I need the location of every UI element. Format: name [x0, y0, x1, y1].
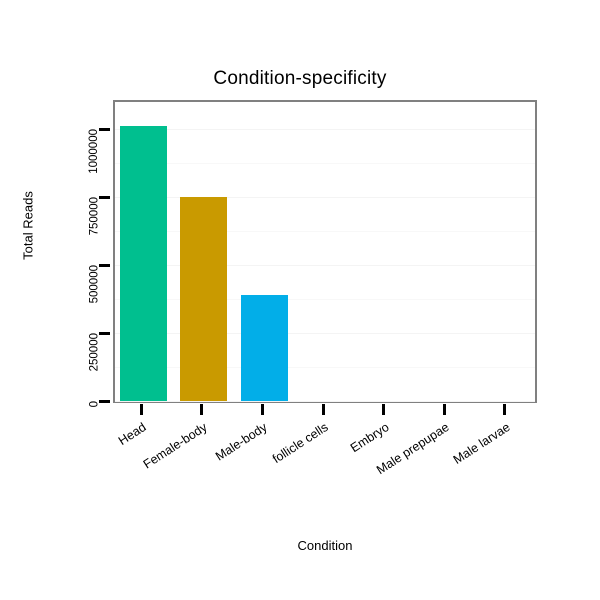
- y-tick-mark: [99, 128, 110, 131]
- panel-inner: [115, 102, 535, 401]
- x-tick-mark: [200, 404, 203, 415]
- x-tick-mark: [140, 404, 143, 415]
- x-tick-mark: [503, 404, 506, 415]
- bar-chart-figure: Condition-specificity Total Reads 025000…: [0, 0, 600, 600]
- bar-series: [115, 102, 535, 401]
- bar[interactable]: [180, 197, 227, 401]
- y-axis-title: Total Reads: [21, 136, 36, 316]
- x-axis-title: Condition: [113, 538, 537, 553]
- bar[interactable]: [241, 295, 288, 401]
- y-tick-label: 500000: [0, 265, 96, 266]
- y-tick-label: 250000: [0, 333, 96, 334]
- gridline: [115, 401, 535, 402]
- y-tick-mark: [99, 332, 110, 335]
- y-tick-label: 750000: [0, 197, 96, 198]
- y-tick-mark: [99, 400, 110, 403]
- y-tick-mark: [99, 264, 110, 267]
- x-tick-mark: [443, 404, 446, 415]
- y-tick-mark: [99, 196, 110, 199]
- plot-panel: [113, 100, 537, 403]
- x-tick-mark: [261, 404, 264, 415]
- x-tick-mark: [382, 404, 385, 415]
- bar[interactable]: [120, 126, 167, 401]
- x-tick-mark: [322, 404, 325, 415]
- y-tick-label: 0: [0, 401, 96, 402]
- y-tick-label: 1000000: [0, 129, 96, 130]
- chart-title: Condition-specificity: [0, 68, 600, 90]
